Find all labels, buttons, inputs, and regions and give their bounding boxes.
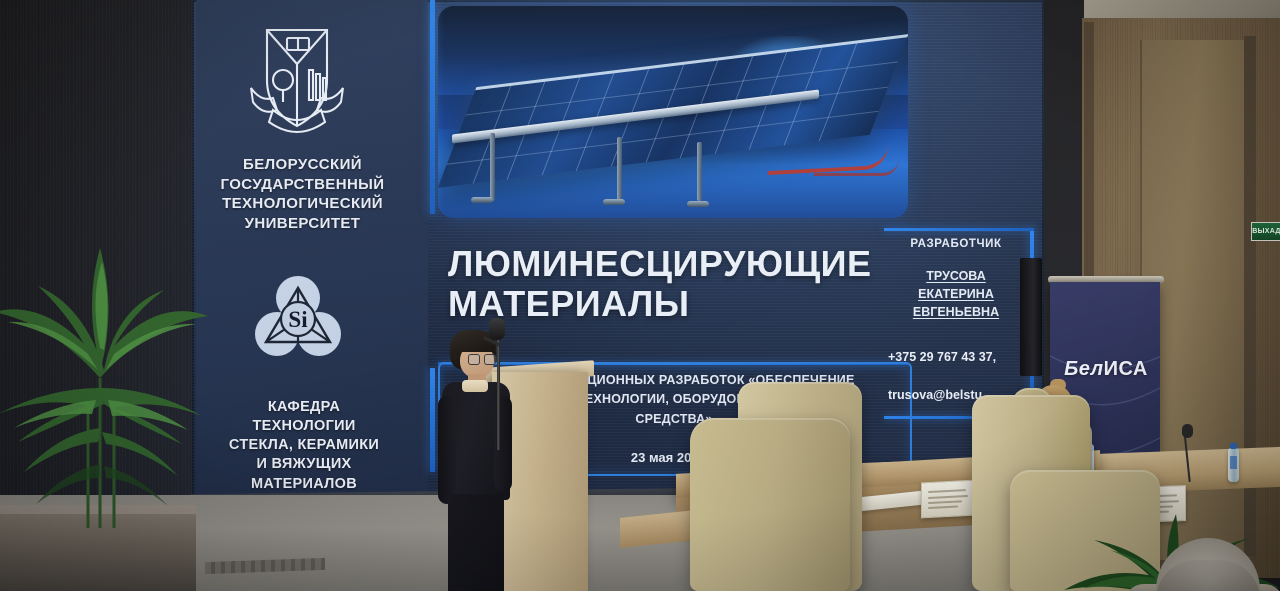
arm-left <box>438 396 456 504</box>
wall-mounted-display <box>1020 258 1042 376</box>
dept-line-3: СТЕКЛА, КЕРАМИКИ <box>198 436 410 455</box>
belisa-logo-part-2: ИСА <box>1104 358 1148 380</box>
developer-name-line-3: ЕВГЕНЬЕВНА <box>913 305 999 319</box>
power-cable-secondary <box>814 159 899 176</box>
uni-line-4: УНИВЕРСИТЕТ <box>205 214 400 234</box>
belisa-logo: БелИСА <box>1058 358 1154 381</box>
developer-name: ТРУСОВА ЕКАТЕРИНА ЕВГЕНЬЕВНА <box>890 268 1022 321</box>
mount-foot <box>603 199 625 205</box>
university-name: БЕЛОРУССКИЙ ГОСУДАРСТВЕННЫЙ ТЕХНОЛОГИЧЕС… <box>205 155 400 233</box>
si-department-logo-icon: Si <box>250 272 346 368</box>
dept-line-2: ТЕХНОЛОГИИ <box>198 417 410 436</box>
collar <box>462 380 488 392</box>
mount-leg <box>697 142 702 201</box>
dept-line-1: КАФЕДРА <box>198 398 410 417</box>
uni-line-2: ГОСУДАРСТВЕННЫЙ <box>205 175 400 195</box>
developer-name-line-2: ЕКАТЕРИНА <box>918 287 994 301</box>
department-name: КАФЕДРА ТЕХНОЛОГИИ СТЕКЛА, КЕРАМИКИ И ВЯ… <box>198 398 410 494</box>
legs <box>448 494 504 591</box>
dept-line-4: И ВЯЖУЩИХ <box>198 455 410 474</box>
exit-sign-label: ВЫХАД <box>1252 228 1280 235</box>
exit-sign: ВЫХАД <box>1251 222 1280 241</box>
developer-phone: +375 29 767 43 37, <box>888 350 1028 364</box>
mount-leg <box>490 133 495 201</box>
dept-line-5: МАТЕРИАЛОВ <box>198 475 410 494</box>
conference-chair <box>690 418 850 591</box>
developer-name-line-1: ТРУСОВА <box>926 269 985 283</box>
slide-title: ЛЮМИНЕСЦИРУЮЩИЕ МАТЕРИАЛЫ <box>448 244 878 323</box>
accent-bar-top <box>884 228 1034 231</box>
slide-title-line-1: ЛЮМИНЕСЦИРУЮЩИЕ <box>448 244 878 284</box>
solar-panel-photo <box>438 6 908 218</box>
uni-line-3: ТЕХНОЛОГИЧЕСКИЙ <box>205 194 400 214</box>
table-name-card <box>921 480 975 519</box>
developer-block: РАЗРАБОТЧИК ТРУСОВА ЕКАТЕРИНА ЕВГЕНЬЕВНА <box>890 238 1022 321</box>
podium-microphone-stand <box>497 330 500 450</box>
developer-label: РАЗРАБОТЧИК <box>890 238 1022 250</box>
belisa-logo-part-1: Бел <box>1064 358 1103 380</box>
university-crest-icon <box>237 18 357 146</box>
potted-palm <box>0 228 218 528</box>
accent-line-left-top <box>430 0 435 214</box>
svg-text:Si: Si <box>288 307 308 332</box>
conference-photo-scene: ВЫХАД БЕЛОРУССКИЙ ГОСУДАРСТВЕННЫЙ ТЕХНОЛ… <box>0 0 1280 591</box>
mount-foot <box>471 197 493 203</box>
uni-line-1: БЕЛОРУССКИЙ <box>205 155 400 175</box>
table-microphone-icon <box>1182 424 1193 438</box>
podium-microphone-icon <box>489 318 505 340</box>
eyeglasses-icon <box>468 354 494 363</box>
mount-leg <box>617 137 622 201</box>
accent-line-left-bottom <box>430 368 435 472</box>
presenter-at-podium <box>438 330 528 591</box>
slide-title-line-2: МАТЕРИАЛЫ <box>448 284 878 324</box>
mount-foot <box>687 201 709 207</box>
